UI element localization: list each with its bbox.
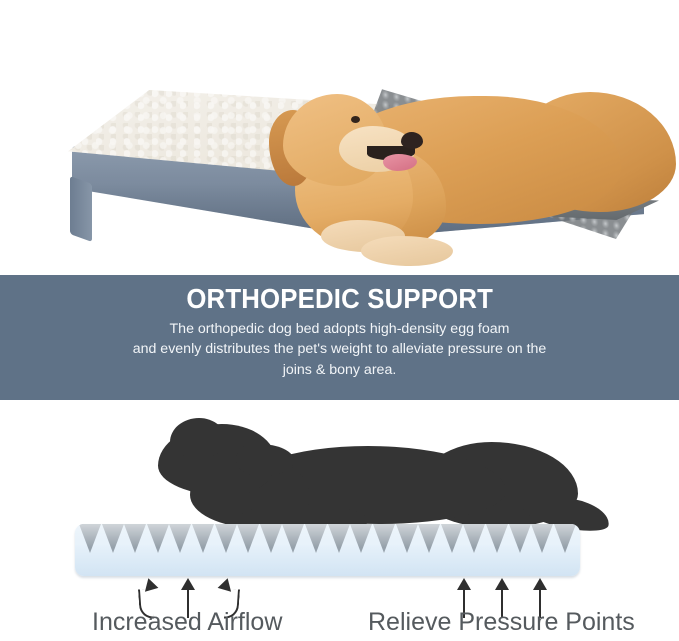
- foam-tooth: [554, 524, 576, 553]
- airflow-pressure-diagram: Increased Airflow Relieve Pressure Point…: [0, 400, 679, 641]
- foam-tooth: [350, 524, 372, 553]
- foam-tooth: [169, 524, 191, 553]
- banner-body-line-1: The orthopedic dog bed adopts high-densi…: [133, 319, 547, 339]
- foam-tooth: [192, 524, 214, 553]
- banner-description: The orthopedic dog bed adopts high-densi…: [133, 319, 547, 379]
- foam-tooth: [305, 524, 327, 553]
- foam-tooth: [373, 524, 395, 553]
- foam-tooth: [79, 524, 101, 553]
- foam-tooth: [463, 524, 485, 553]
- dog-silhouette: [118, 412, 588, 538]
- bed-corner-seam: [70, 176, 92, 242]
- product-infographic: ORTHOPEDIC SUPPORT The orthopedic dog be…: [0, 0, 679, 641]
- caption-relieve-pressure-points: Relieve Pressure Points: [368, 608, 635, 637]
- product-photo: [0, 0, 679, 275]
- foam-tooth: [396, 524, 418, 553]
- diagram-captions: Increased Airflow Relieve Pressure Point…: [0, 608, 679, 641]
- foam-tooth: [282, 524, 304, 553]
- banner-body-line-2: and evenly distributes the pet's weight …: [133, 339, 547, 359]
- dog-nose: [401, 132, 423, 149]
- orthopedic-support-banner: ORTHOPEDIC SUPPORT The orthopedic dog be…: [0, 275, 679, 400]
- foam-tooth: [215, 524, 237, 553]
- banner-title: ORTHOPEDIC SUPPORT: [186, 284, 493, 314]
- foam-tooth: [486, 524, 508, 553]
- egg-foam-teeth: [75, 524, 580, 554]
- golden-retriever-dog: [243, 88, 673, 275]
- foam-tooth: [531, 524, 553, 553]
- foam-tooth: [124, 524, 146, 553]
- foam-tooth: [260, 524, 282, 553]
- dog-paw-rear: [361, 236, 453, 266]
- foam-tooth: [441, 524, 463, 553]
- silhouette-ear: [170, 418, 226, 458]
- foam-tooth: [237, 524, 259, 553]
- caption-increased-airflow: Increased Airflow: [92, 608, 282, 637]
- dog-eye: [351, 116, 360, 123]
- foam-tooth: [147, 524, 169, 553]
- foam-tooth: [418, 524, 440, 553]
- banner-body-line-3: joins & bony area.: [133, 360, 547, 380]
- foam-tooth: [328, 524, 350, 553]
- foam-tooth: [102, 524, 124, 553]
- dog-bed-product: [58, 88, 658, 253]
- foam-tooth: [509, 524, 531, 553]
